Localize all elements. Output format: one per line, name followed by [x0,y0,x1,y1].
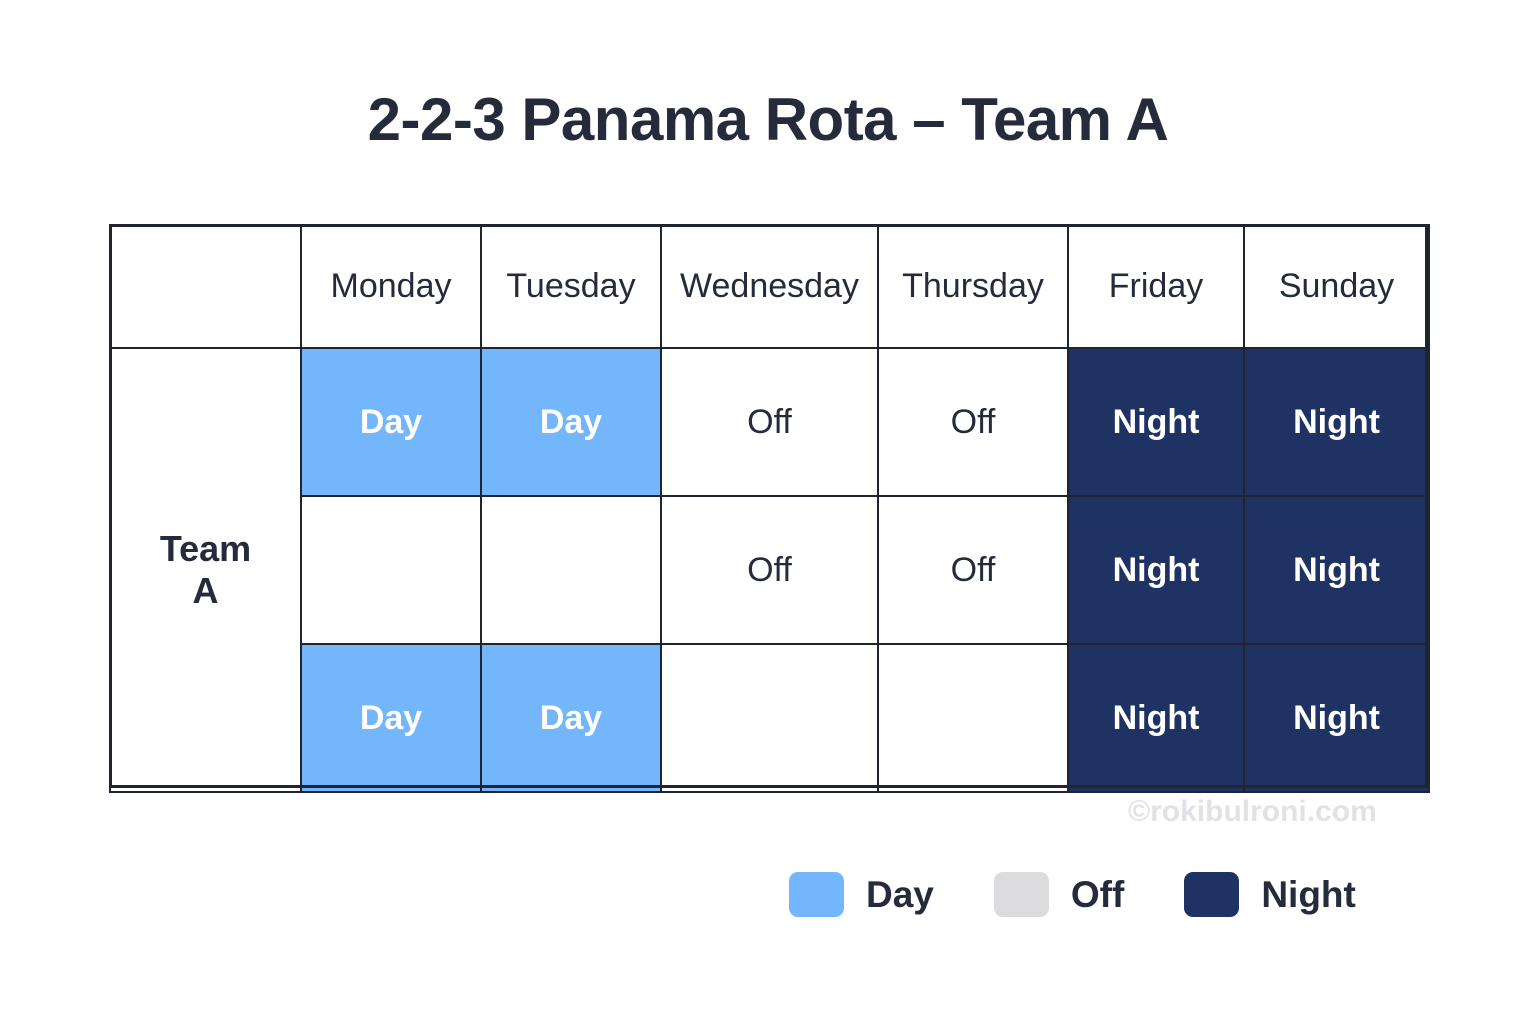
legend-swatch-off-icon [994,872,1049,917]
cell-week3-friday: Night [1068,644,1244,792]
cell-week1-monday: Day [301,348,481,496]
table-head: Monday Tuesday Wednesday Thursday Friday… [110,225,1429,348]
legend-item-off: Off [994,872,1124,917]
table-row: Off Off Night Night [110,496,1429,644]
header-row: Monday Tuesday Wednesday Thursday Friday… [110,225,1429,348]
cell-week1-friday: Night [1068,348,1244,496]
page-title: 2-2-3 Panama Rota – Team A [0,85,1536,154]
legend-label-off: Off [1071,874,1124,916]
legend-label-day: Day [866,874,934,916]
cell-week2-tuesday [481,496,661,644]
header-thursday: Thursday [878,225,1068,348]
cell-week3-wednesday [661,644,878,792]
header-corner [110,225,301,348]
cell-week1-wednesday: Off [661,348,878,496]
cell-week3-tuesday: Day [481,644,661,792]
legend-item-night: Night [1184,872,1356,917]
page-root: 2-2-3 Panama Rota – Team A ©rokibulroni.… [0,0,1536,1024]
row-label-team-a: TeamA [110,348,301,792]
cell-week3-thursday [878,644,1068,792]
legend-swatch-day-icon [789,872,844,917]
legend: Day Off Night [789,872,1356,917]
header-monday: Monday [301,225,481,348]
cell-week2-friday: Night [1068,496,1244,644]
table-body: TeamA Day Day Off Off Night Night Off Of… [110,348,1429,792]
cell-week3-sunday: Night [1244,644,1429,792]
table-row: TeamA Day Day Off Off Night Night [110,348,1429,496]
header-tuesday: Tuesday [481,225,661,348]
rota-table-container: Monday Tuesday Wednesday Thursday Friday… [109,224,1428,788]
cell-week2-wednesday: Off [661,496,878,644]
legend-item-day: Day [789,872,934,917]
cell-week2-sunday: Night [1244,496,1429,644]
legend-swatch-night-icon [1184,872,1239,917]
legend-label-night: Night [1261,874,1356,916]
cell-week1-thursday: Off [878,348,1068,496]
table-row: Day Day Night Night [110,644,1429,792]
cell-week2-monday [301,496,481,644]
watermark-small: ©rokibulroni.com [1128,795,1377,829]
header-sunday: Sunday [1244,225,1429,348]
cell-week2-thursday: Off [878,496,1068,644]
rota-table: Monday Tuesday Wednesday Thursday Friday… [109,224,1430,793]
cell-week1-tuesday: Day [481,348,661,496]
cell-week1-sunday: Night [1244,348,1429,496]
header-wednesday: Wednesday [661,225,878,348]
header-friday: Friday [1068,225,1244,348]
cell-week3-monday: Day [301,644,481,792]
